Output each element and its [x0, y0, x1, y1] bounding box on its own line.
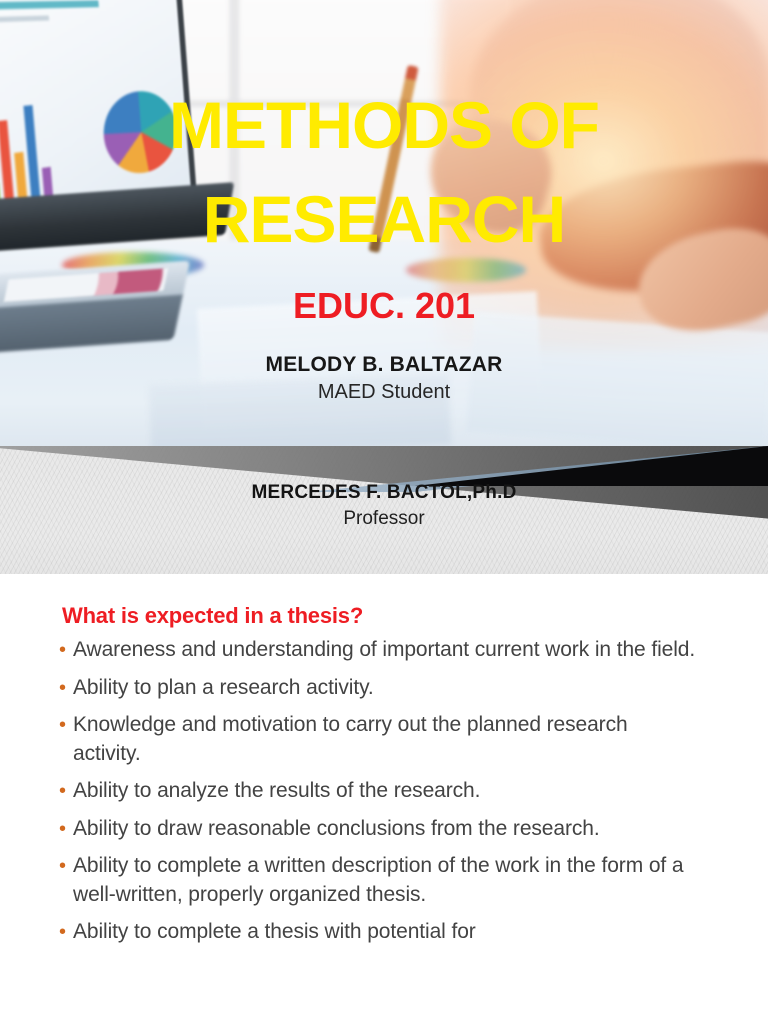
bullet-dot-icon: • [59, 777, 66, 806]
presentation-slide-page: METHODS OF RESEARCH EDUC. 201 MELODY B. … [0, 0, 768, 1024]
author-role: MAED Student [0, 379, 768, 405]
bullet-dot-icon: • [59, 636, 66, 665]
list-item: •Ability to complete a written descripti… [58, 852, 698, 909]
bullet-dot-icon: • [59, 852, 66, 881]
content-heading: What is expected in a thesis? [62, 602, 363, 630]
list-item-label: Ability to draw reasonable conclusions f… [73, 817, 600, 840]
list-item-label: Ability to plan a research activity. [73, 676, 374, 699]
list-item-label: Ability to analyze the results of the re… [73, 779, 480, 802]
bullet-dot-icon: • [59, 711, 66, 740]
course-code: EDUC. 201 [0, 285, 768, 327]
list-item-label: Ability to complete a thesis with potent… [73, 920, 476, 943]
list-item: •Ability to complete a thesis with poten… [58, 918, 698, 947]
professor-name: MERCEDES F. BACTOL,Ph.D [0, 481, 768, 505]
professor-role: Professor [0, 507, 768, 531]
bullet-dot-icon: • [59, 815, 66, 844]
list-item: •Knowledge and motivation to carry out t… [58, 711, 698, 768]
list-item-label: Awareness and understanding of important… [73, 638, 695, 661]
author-name: MELODY B. BALTAZAR [0, 352, 768, 378]
bullet-dot-icon: • [59, 918, 66, 947]
hero-text-overlay: METHODS OF RESEARCH EDUC. 201 MELODY B. … [0, 0, 768, 447]
list-item-label: Knowledge and motivation to carry out th… [73, 713, 628, 765]
list-item: •Awareness and understanding of importan… [58, 636, 698, 665]
list-item: •Ability to plan a research activity. [58, 674, 698, 703]
thesis-expectations-list: •Awareness and understanding of importan… [58, 636, 698, 956]
list-item: •Ability to draw reasonable conclusions … [58, 815, 698, 844]
list-item: •Ability to analyze the results of the r… [58, 777, 698, 806]
slide-title: METHODS OF RESEARCH [0, 78, 768, 266]
list-item-label: Ability to complete a written descriptio… [73, 854, 683, 906]
hero-photo-section: METHODS OF RESEARCH EDUC. 201 MELODY B. … [0, 0, 768, 447]
content-section: What is expected in a thesis? •Awareness… [0, 574, 768, 1024]
bullet-dot-icon: • [59, 674, 66, 703]
